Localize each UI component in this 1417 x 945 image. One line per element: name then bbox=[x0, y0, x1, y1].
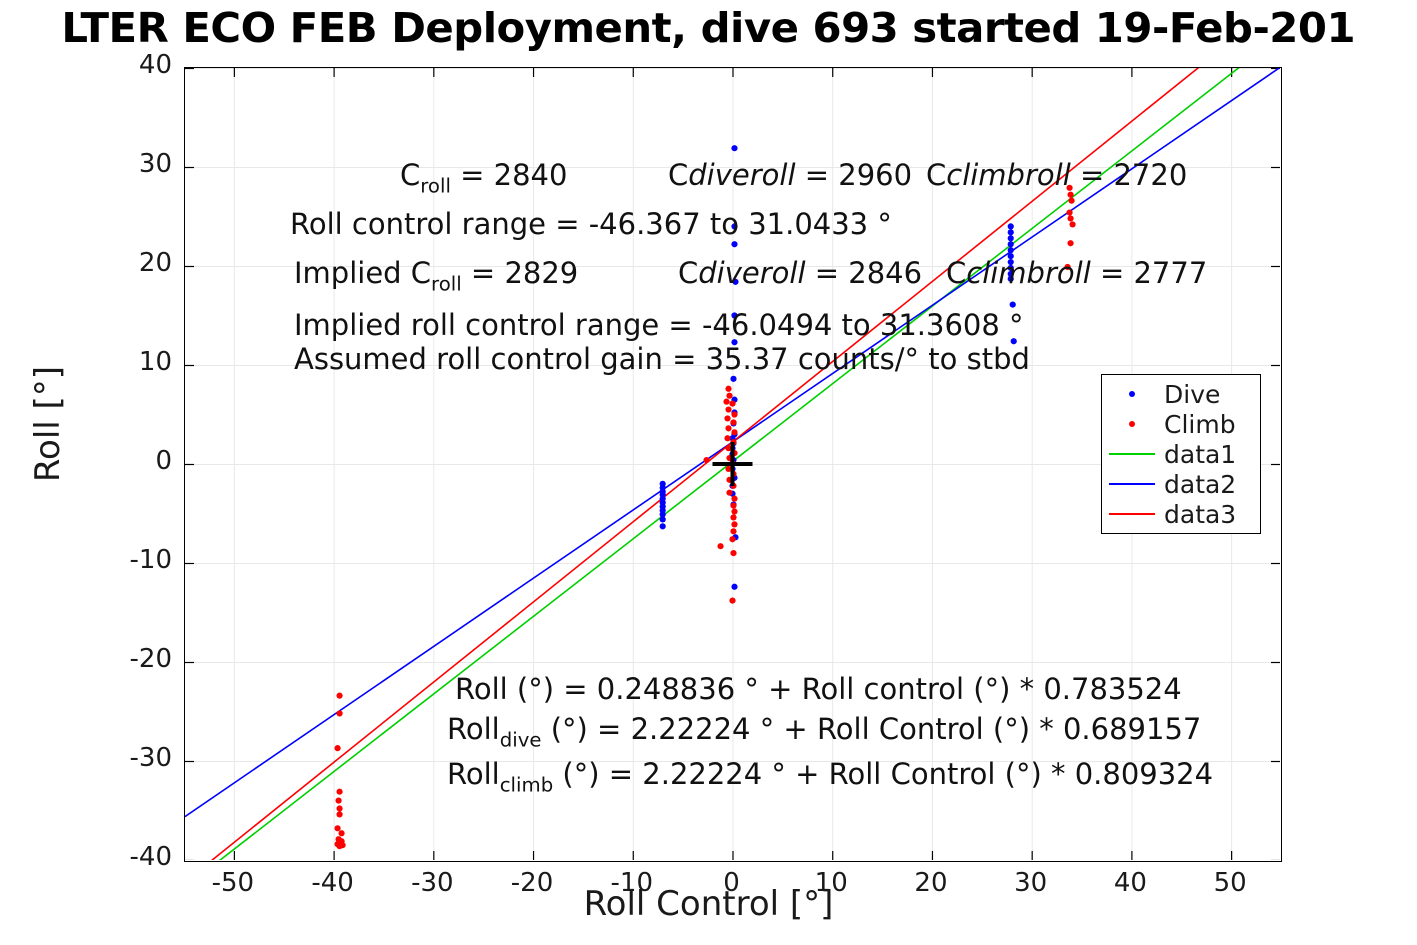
data-point bbox=[1069, 221, 1075, 227]
x-tick-label: -20 bbox=[487, 868, 577, 898]
legend-marker-icon bbox=[1106, 391, 1158, 397]
y-axis-title: Roll [°] bbox=[28, 124, 68, 724]
data-point bbox=[723, 399, 729, 405]
data-point bbox=[730, 502, 736, 508]
data-point bbox=[1010, 302, 1016, 308]
data-point bbox=[731, 411, 737, 417]
x-tick-label: -40 bbox=[288, 868, 378, 898]
data-point bbox=[335, 798, 341, 804]
annot-assumed-gain: Assumed roll control gain = 35.37 counts… bbox=[294, 342, 1030, 376]
annot-roll-control-range: Roll control range = -46.367 to 31.0433 … bbox=[290, 207, 892, 241]
legend-swatch bbox=[1109, 453, 1155, 455]
legend-marker-icon bbox=[1106, 421, 1158, 427]
equation-roll-climb: Rollclimb (°) = 2.22224 ° + Roll Control… bbox=[447, 757, 1213, 796]
annot-implied-c-roll-climb: Cclimbroll = 2777 bbox=[946, 256, 1207, 290]
page-title: LTER ECO FEB Deployment, dive 693 starte… bbox=[0, 2, 1417, 54]
legend-label: Dive bbox=[1158, 380, 1220, 409]
data-point bbox=[338, 830, 344, 836]
data-point bbox=[1008, 241, 1014, 247]
y-tick-label: -20 bbox=[92, 644, 172, 674]
data-point bbox=[731, 584, 737, 590]
data-point bbox=[731, 521, 737, 527]
data-point bbox=[336, 710, 342, 716]
annotation-block-equations: Roll (°) = 0.248836 ° + Roll control (°)… bbox=[455, 672, 1221, 803]
annot-c-roll-climb: Cclimbroll = 2720 bbox=[926, 158, 1187, 192]
data-point bbox=[334, 745, 340, 751]
x-tick-label: 10 bbox=[786, 868, 876, 898]
data-point bbox=[730, 528, 736, 534]
equation-roll-dive: Rolldive (°) = 2.22224 ° + Roll Control … bbox=[447, 712, 1213, 751]
legend-swatch bbox=[1129, 391, 1135, 397]
data-point bbox=[726, 490, 732, 496]
x-tick-label: 30 bbox=[986, 868, 1076, 898]
y-tick-label: -30 bbox=[92, 743, 172, 773]
data-point bbox=[729, 598, 735, 604]
x-tick-label: 50 bbox=[1185, 868, 1275, 898]
data-point bbox=[334, 825, 340, 831]
legend-item[interactable]: data1 bbox=[1106, 439, 1254, 469]
data-point bbox=[730, 376, 736, 382]
y-tick-label: 10 bbox=[92, 347, 172, 377]
data-point bbox=[1008, 223, 1014, 229]
legend-swatch bbox=[1109, 483, 1155, 485]
equation-roll: Roll (°) = 0.248836 ° + Roll control (°)… bbox=[455, 672, 1221, 706]
data-point bbox=[724, 435, 730, 441]
legend-line-icon bbox=[1106, 513, 1158, 515]
data-point bbox=[336, 805, 342, 811]
legend-line-icon bbox=[1106, 453, 1158, 455]
data-point bbox=[336, 789, 342, 795]
legend-label: data1 bbox=[1158, 440, 1236, 469]
legend: DiveClimbdata1data2data3 bbox=[1101, 374, 1261, 534]
data-point bbox=[660, 516, 666, 522]
data-point bbox=[336, 811, 342, 817]
annot-implied-roll-control-range: Implied roll control range = -46.0494 to… bbox=[294, 308, 1024, 342]
legend-line-icon bbox=[1106, 483, 1158, 485]
legend-item[interactable]: data3 bbox=[1106, 499, 1254, 529]
y-tick-label: 20 bbox=[92, 248, 172, 278]
data-point bbox=[724, 415, 730, 421]
data-point bbox=[725, 386, 731, 392]
data-point bbox=[731, 241, 737, 247]
x-tick-label: -30 bbox=[387, 868, 477, 898]
data-point bbox=[1008, 229, 1014, 235]
data-point bbox=[1008, 247, 1014, 253]
annot-implied-c-roll: Implied Croll = 2829 bbox=[294, 256, 578, 295]
data-point bbox=[717, 543, 723, 549]
data-point bbox=[1067, 192, 1073, 198]
x-tick-label: 20 bbox=[886, 868, 976, 898]
legend-swatch bbox=[1109, 513, 1155, 515]
data-point bbox=[1067, 215, 1073, 221]
title-text: LTER ECO FEB Deployment, dive 693 starte… bbox=[62, 2, 1356, 54]
legend-swatch bbox=[1129, 421, 1135, 427]
data-point bbox=[1068, 198, 1074, 204]
chart-page: LTER ECO FEB Deployment, dive 693 starte… bbox=[0, 0, 1417, 945]
legend-item[interactable]: data2 bbox=[1106, 469, 1254, 499]
origin-cross-marker bbox=[713, 442, 753, 486]
data-point bbox=[660, 523, 666, 529]
annot-implied-c-roll-dive: Cdiveroll = 2846 bbox=[678, 256, 922, 290]
data-point bbox=[1067, 240, 1073, 246]
data-point bbox=[729, 536, 735, 542]
data-point bbox=[725, 406, 731, 412]
legend-label: data2 bbox=[1158, 470, 1236, 499]
annot-c-roll: Croll = 2840 bbox=[400, 158, 567, 197]
data-point bbox=[336, 693, 342, 699]
data-point bbox=[725, 425, 731, 431]
data-point bbox=[339, 842, 345, 848]
data-point bbox=[731, 508, 737, 514]
y-tick-label: 30 bbox=[92, 149, 172, 179]
legend-item[interactable]: Climb bbox=[1106, 409, 1254, 439]
x-tick-label: -10 bbox=[587, 868, 677, 898]
data-point bbox=[731, 145, 737, 151]
data-point bbox=[730, 550, 736, 556]
x-tick-label: 40 bbox=[1085, 868, 1175, 898]
data-point bbox=[730, 514, 736, 520]
legend-item[interactable]: Dive bbox=[1106, 379, 1254, 409]
data-point bbox=[729, 401, 735, 407]
data-point bbox=[1008, 235, 1014, 241]
data-point bbox=[731, 496, 737, 502]
data-point bbox=[703, 457, 709, 463]
x-tick-label: 0 bbox=[687, 868, 777, 898]
legend-label: data3 bbox=[1158, 500, 1236, 529]
data-point bbox=[726, 393, 732, 399]
data-point bbox=[1066, 209, 1072, 215]
y-tick-label: -10 bbox=[92, 545, 172, 575]
data-point bbox=[731, 429, 737, 435]
y-tick-label: -40 bbox=[92, 842, 172, 872]
annot-c-roll-dive: Cdiveroll = 2960 bbox=[668, 158, 912, 192]
legend-label: Climb bbox=[1158, 410, 1236, 439]
y-tick-label: 40 bbox=[92, 50, 172, 80]
x-tick-label: -50 bbox=[188, 868, 278, 898]
data-point bbox=[730, 419, 736, 425]
y-tick-label: 0 bbox=[92, 446, 172, 476]
